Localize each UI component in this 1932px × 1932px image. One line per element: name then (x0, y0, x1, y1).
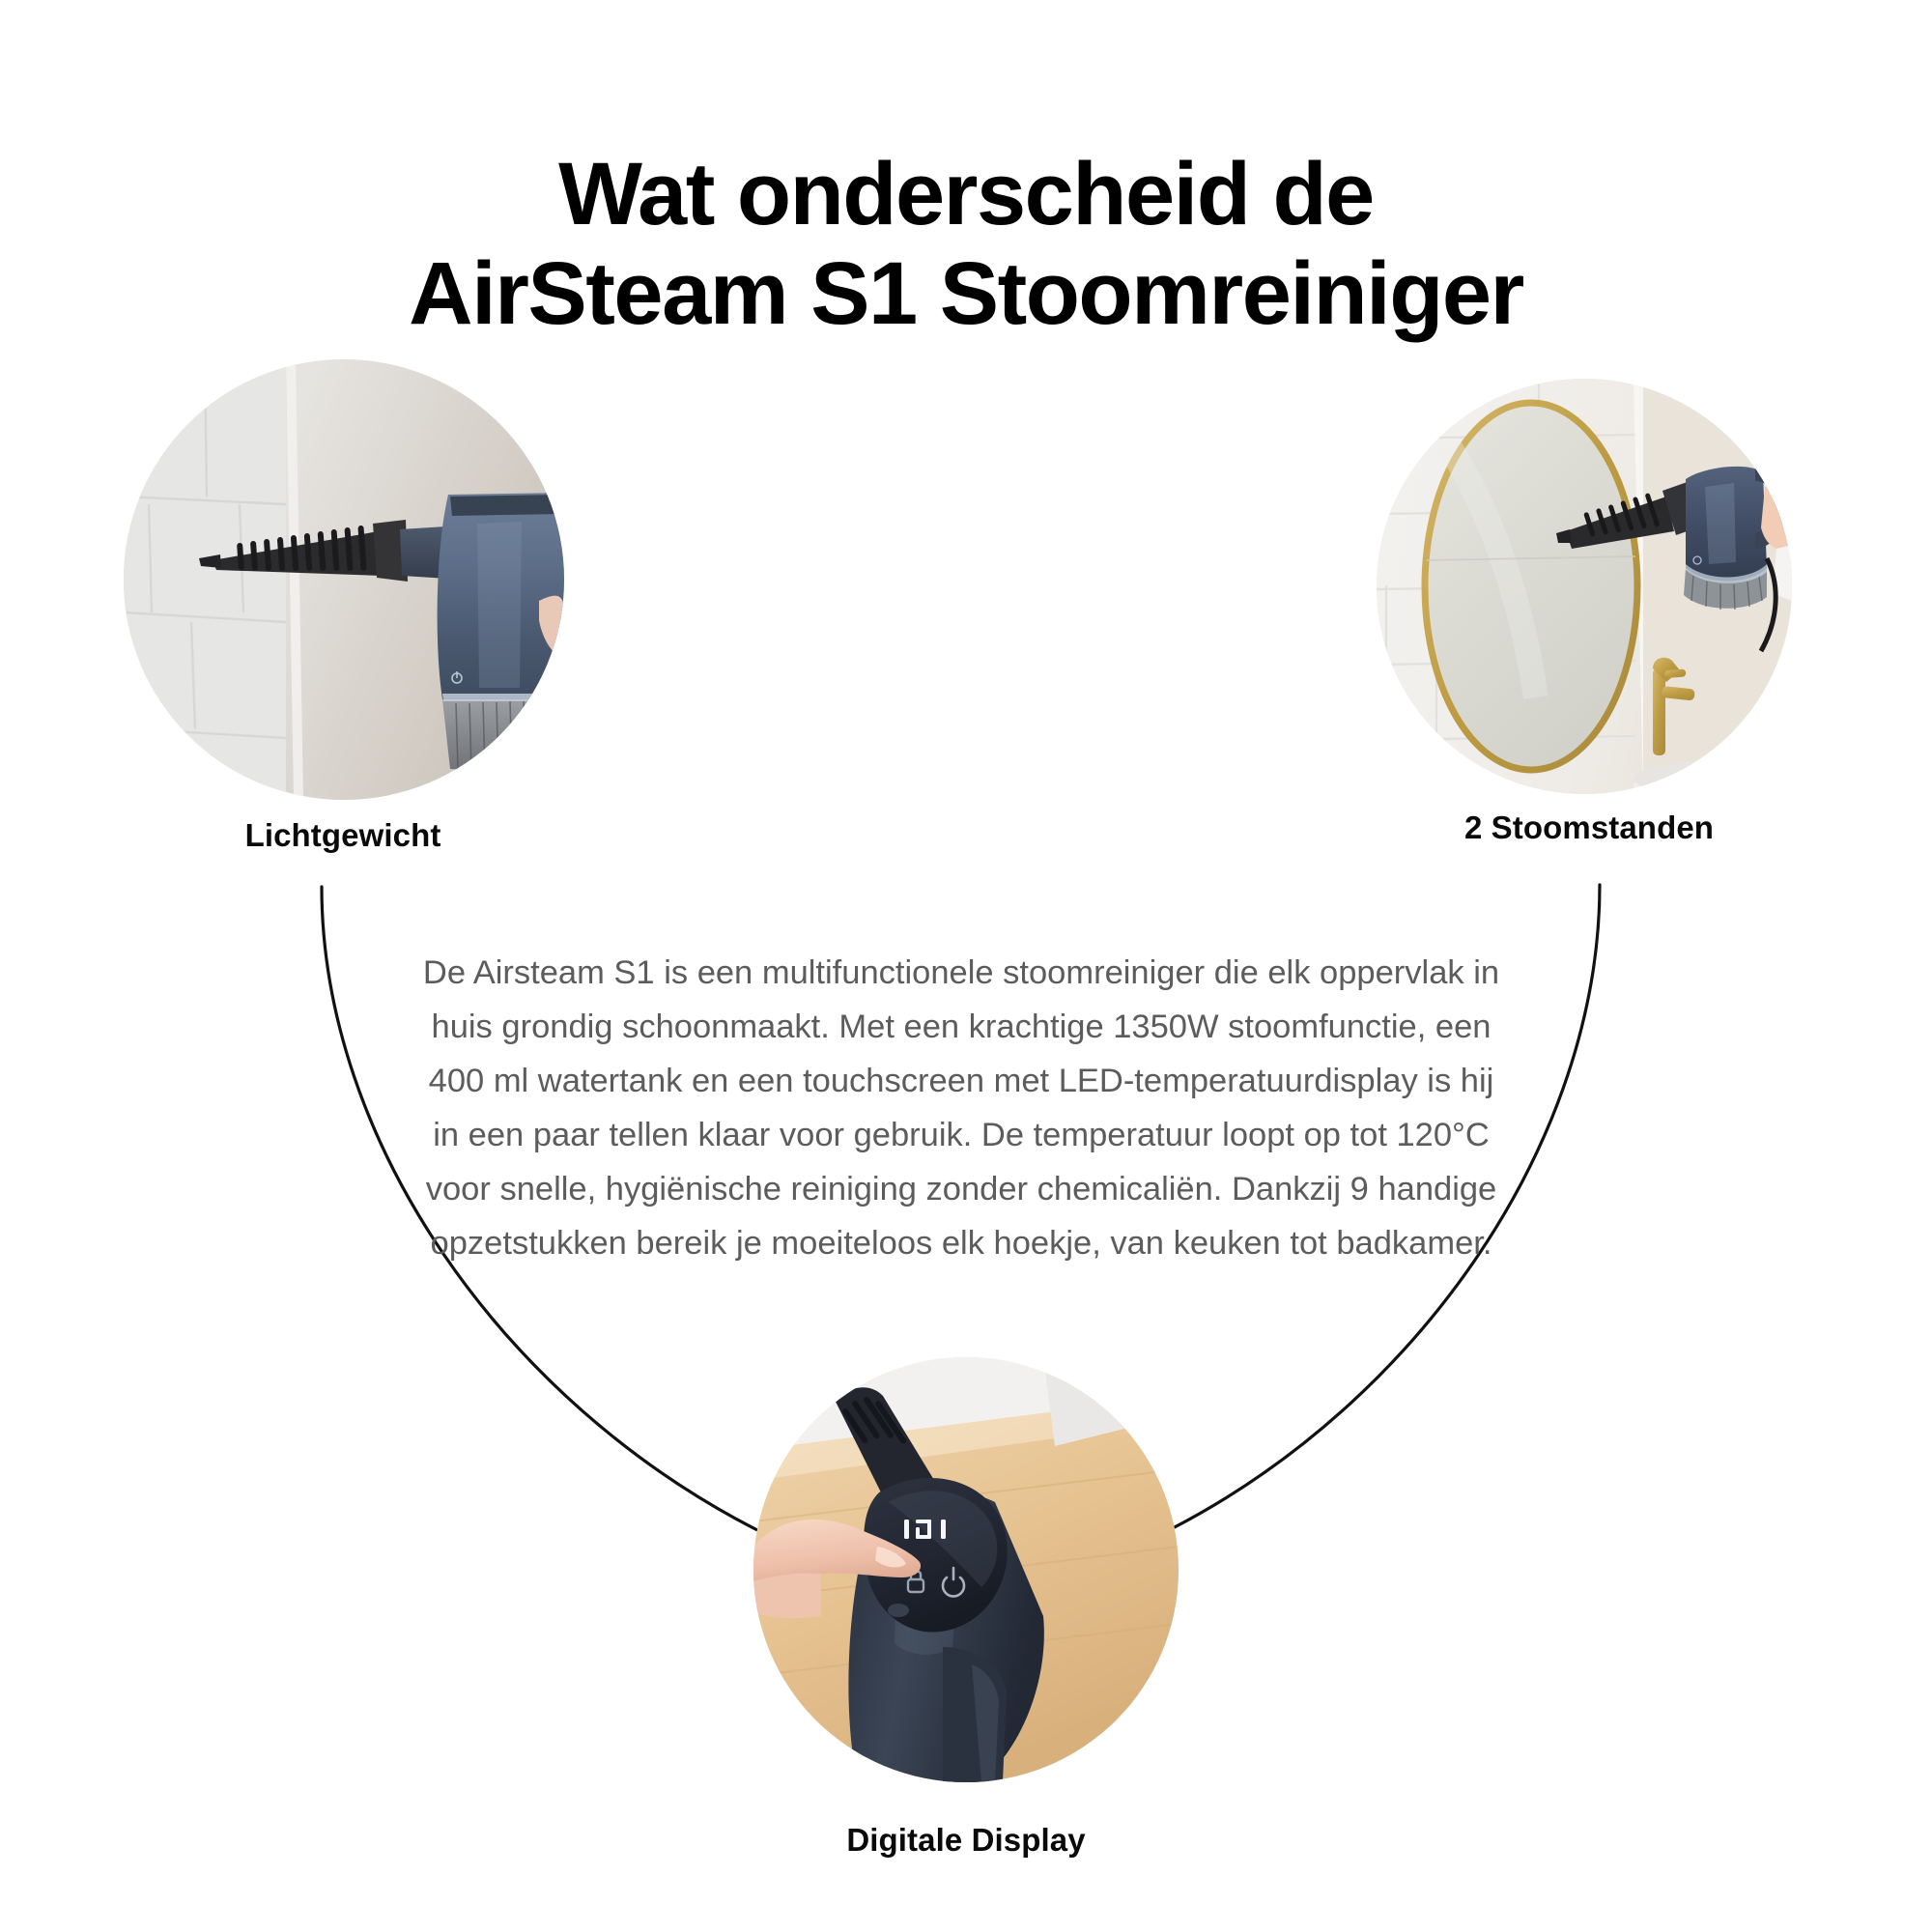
infographic-canvas: Wat onderscheid de AirSteam S1 Stoomrein… (0, 0, 1932, 1932)
stoomstanden-illustration (1377, 379, 1792, 794)
feature-image-stoomstanden (1377, 379, 1792, 794)
product-description: De Airsteam S1 is een multifunctionele s… (415, 946, 1507, 1270)
feature-caption-display: Digitale Display (753, 1822, 1179, 1859)
page-title: Wat onderscheid de AirSteam S1 Stoomrein… (0, 145, 1932, 344)
page-title-line-1: Wat onderscheid de (0, 145, 1932, 244)
lichtgewicht-illustration (124, 359, 564, 800)
page-title-line-2: AirSteam S1 Stoomreiniger (0, 244, 1932, 344)
feature-caption-stoomstanden: 2 Stoomstanden (1246, 810, 1932, 846)
display-illustration (753, 1357, 1179, 1782)
feature-image-display (753, 1357, 1179, 1782)
feature-caption-lichtgewicht: Lichtgewicht (0, 817, 686, 854)
feature-image-lichtgewicht (124, 359, 564, 800)
